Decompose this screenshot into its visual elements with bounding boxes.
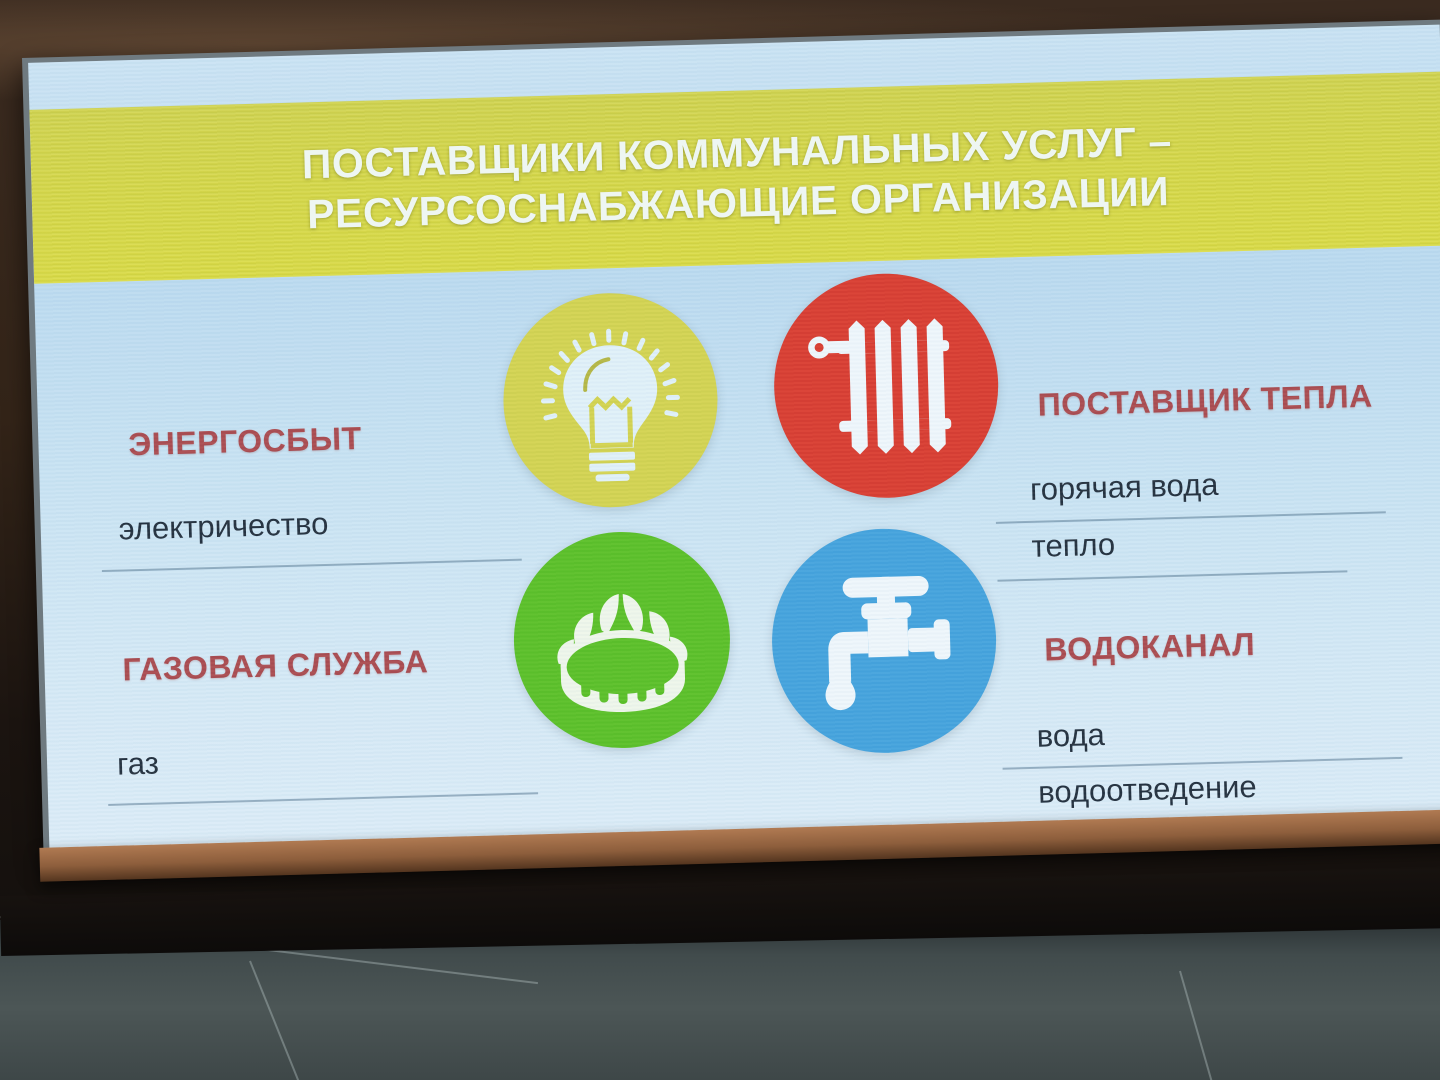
provider-heading-heat: ПОСТАВЩИК ТЕПЛА xyxy=(1037,378,1373,424)
photo-of-projected-slide: ПОСТАВЩИКИ КОММУНАЛЬНЫХ УСЛУГ – РЕСУРСОС… xyxy=(0,0,1440,1080)
service-label-heating: тепло xyxy=(1031,527,1116,565)
underline-rule xyxy=(1003,757,1403,770)
service-label-electricity: электричество xyxy=(118,506,328,548)
underline-rule xyxy=(108,792,538,806)
underline-rule xyxy=(997,570,1347,581)
presentation-slide: ПОСТАВЩИКИ КОММУНАЛЬНЫХ УСЛУГ – РЕСУРСОС… xyxy=(28,25,1440,849)
service-label-hot-water: горячая вода xyxy=(1030,467,1219,508)
provider-heading-energosbyt: ЭНЕРГОСБЫТ xyxy=(128,420,362,463)
underline-rule xyxy=(102,559,522,572)
service-label-sewage: водоотведение xyxy=(1038,769,1257,811)
service-label-water: вода xyxy=(1036,717,1105,755)
provider-heading-gas-service: ГАЗОВАЯ СЛУЖБА xyxy=(122,643,429,688)
underline-rule xyxy=(996,511,1386,524)
lightbulb-icon xyxy=(501,290,721,510)
water-tap-icon xyxy=(769,526,999,756)
slide-content: ЭНЕРГОСБЫТ электричество xyxy=(34,246,1440,849)
projection-screen: ПОСТАВЩИКИ КОММУНАЛЬНЫХ УСЛУГ – РЕСУРСОС… xyxy=(22,19,1440,857)
screen-frame: ПОСТАВЩИКИ КОММУНАЛЬНЫХ УСЛУГ – РЕСУРСОС… xyxy=(22,19,1440,857)
service-label-gas: газ xyxy=(117,746,160,783)
page-title: ПОСТАВЩИКИ КОММУНАЛЬНЫХ УСЛУГ – РЕСУРСОС… xyxy=(261,115,1214,241)
radiator-icon xyxy=(771,271,1001,501)
provider-heading-vodokanal: ВОДОКАНАЛ xyxy=(1044,626,1256,669)
gas-burner-icon xyxy=(511,529,733,751)
